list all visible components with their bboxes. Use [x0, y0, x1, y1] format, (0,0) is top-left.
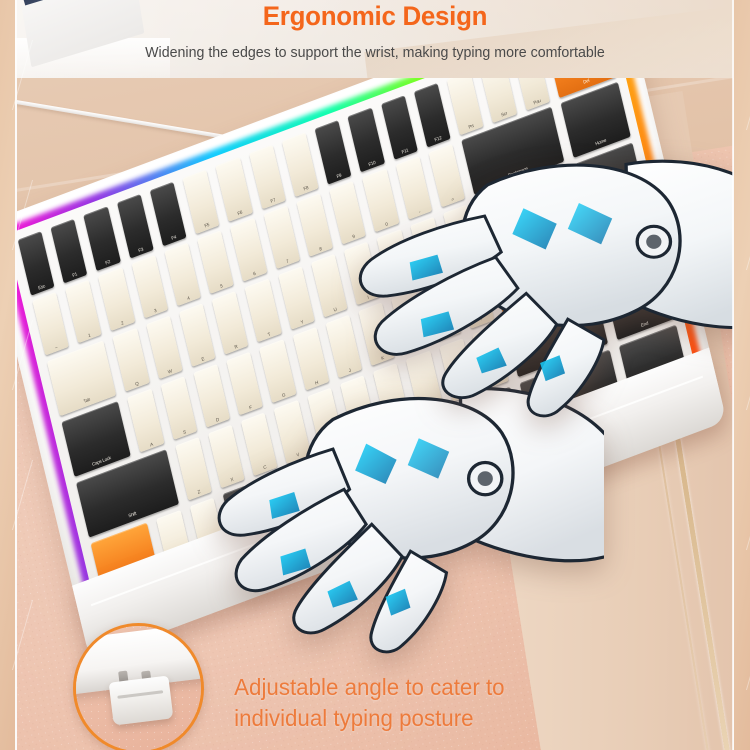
product-marketing-banner: EscF1F2F3F4F5F6F7F8F9F10F11F12PrtScrPauD… — [0, 0, 750, 750]
keycap-w[interactable]: W — [145, 316, 182, 380]
keycap-8[interactable]: 8 — [296, 193, 333, 257]
keycap-f2[interactable]: F2 — [83, 207, 120, 271]
keycap-6[interactable]: 6 — [230, 218, 267, 282]
keycap-[interactable]: ~ — [32, 292, 69, 356]
callout-caption: Adjustable angle to cater to individual … — [234, 672, 504, 734]
keycap-f3[interactable]: F3 — [116, 194, 153, 258]
keycap-esc[interactable]: Esc — [17, 231, 54, 295]
header-band: Ergonomic Design Widening the edges to s… — [0, 0, 750, 78]
kickstand-callout-circle — [73, 623, 204, 750]
page-title: Ergonomic Design — [15, 1, 735, 31]
keycap-q[interactable]: Q — [112, 328, 149, 392]
keycap-3[interactable]: 3 — [131, 255, 168, 319]
callout-caption-line-2: individual typing posture — [234, 703, 504, 734]
keycap-f1[interactable]: F1 — [50, 219, 87, 283]
keycap-1[interactable]: 1 — [65, 280, 102, 344]
keycap-f4[interactable]: F4 — [149, 182, 186, 246]
keycap-7[interactable]: 7 — [263, 205, 300, 269]
page-subtitle: Widening the edges to support the wrist,… — [8, 44, 743, 62]
robot-hand-right — [332, 105, 733, 428]
keycap-f8[interactable]: F8 — [281, 132, 318, 196]
keycap-5[interactable]: 5 — [197, 230, 234, 294]
left-border-strip — [0, 0, 15, 750]
keycap-4[interactable]: 4 — [164, 242, 201, 306]
callout-caption-line-1: Adjustable angle to cater to — [234, 672, 504, 703]
keycap-a[interactable]: A — [127, 389, 164, 453]
kickstand-foot-icon — [109, 675, 174, 724]
right-border-hairline — [732, 0, 734, 750]
right-border-strip — [734, 0, 750, 750]
left-border-hairline — [15, 0, 17, 750]
keycap-2[interactable]: 2 — [98, 267, 135, 331]
keycap-f7[interactable]: F7 — [248, 145, 285, 209]
keycap-f6[interactable]: F6 — [215, 157, 252, 221]
keycap-f5[interactable]: F5 — [182, 169, 219, 233]
